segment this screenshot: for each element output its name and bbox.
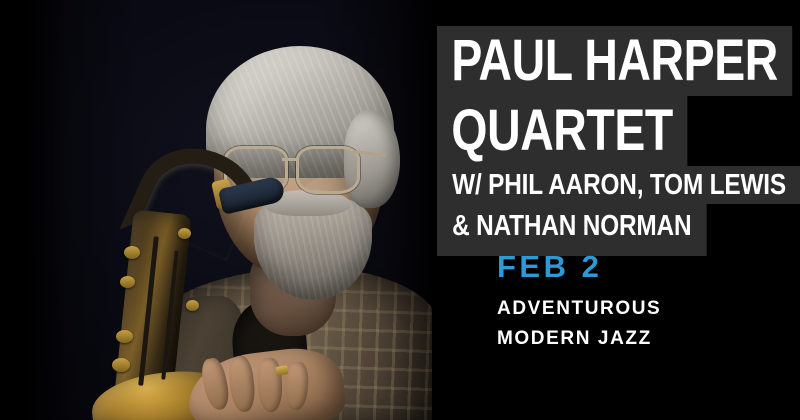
event-date: FEB 2 bbox=[497, 248, 661, 286]
saxophone-key bbox=[186, 300, 199, 311]
saxophone-key bbox=[178, 228, 191, 239]
genre-line-2: MODERN JAZZ bbox=[497, 324, 661, 354]
title-line-members-1: W/ PHIL AARON, TOM LEWIS bbox=[437, 166, 800, 204]
title-block: PAUL HARPER QUARTET W/ PHIL AARON, TOM L… bbox=[437, 26, 800, 256]
title-line-ensemble: QUARTET bbox=[437, 96, 687, 166]
saxophone-key bbox=[116, 330, 133, 343]
event-poster: PAUL HARPER QUARTET W/ PHIL AARON, TOM L… bbox=[0, 0, 800, 420]
info-block: FEB 2 ADVENTUROUS MODERN JAZZ bbox=[497, 248, 661, 354]
saxophone-key bbox=[120, 276, 135, 288]
saxophone-key bbox=[112, 358, 130, 372]
saxophone-key bbox=[124, 246, 140, 259]
performer-photo bbox=[28, 0, 432, 420]
title-line-artist: PAUL HARPER bbox=[437, 26, 792, 96]
genre-line-1: ADVENTUROUS bbox=[497, 294, 661, 324]
saxophone bbox=[28, 0, 432, 420]
